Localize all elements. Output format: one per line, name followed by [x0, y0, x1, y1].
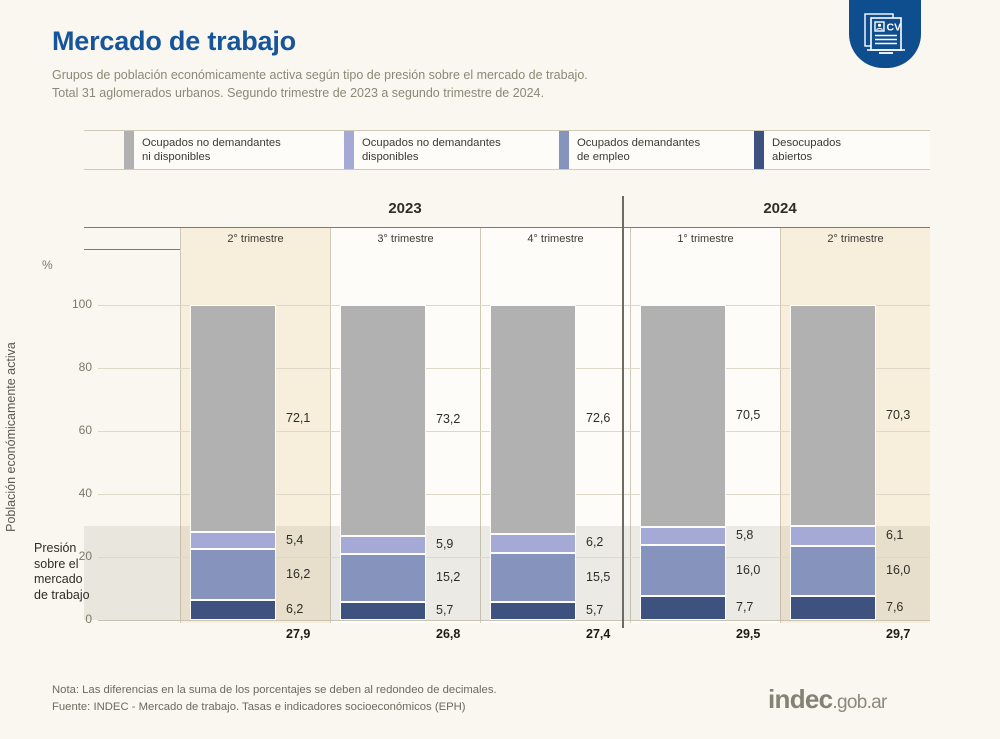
bar-segment: [790, 305, 876, 526]
bar-value-label: 70,5: [736, 408, 760, 422]
stacked-bar: [490, 250, 576, 620]
bar-value-label: 7,6: [886, 600, 903, 614]
page-title: Mercado de trabajo: [52, 26, 296, 57]
bar-segment: [640, 527, 726, 545]
bar-value-label: 73,2: [436, 412, 460, 426]
bar-segment: [340, 536, 426, 555]
bar-total-label: 27,4: [586, 627, 610, 641]
legend-swatch: [344, 131, 354, 169]
bar-segment: [190, 549, 276, 600]
legend-swatch: [559, 131, 569, 169]
bar-value-label: 5,7: [436, 603, 453, 617]
legend-swatch: [754, 131, 764, 169]
stacked-bar: [190, 250, 276, 620]
bar-value-label: 72,1: [286, 411, 310, 425]
bar-value-label: 70,3: [886, 408, 910, 422]
bar-segment: [490, 553, 576, 602]
quarter-label-3: 4° trimestre: [480, 228, 630, 250]
bar-value-label: 5,4: [286, 533, 303, 547]
cv-document-icon: CV: [862, 9, 908, 55]
bar-value-label: 5,9: [436, 537, 453, 551]
y-tick-label-100: 100: [52, 297, 92, 311]
bar-segment: [340, 554, 426, 602]
quarter-label-5: 2° trimestre: [780, 228, 930, 250]
chart-legend: Ocupados no demandantes ni disponibles O…: [84, 130, 930, 170]
bar-value-label: 15,5: [586, 570, 610, 584]
year-header-row: 2023 2024: [84, 196, 930, 228]
bar-segment: [340, 305, 426, 536]
bar-segment: [190, 532, 276, 549]
legend-label: Ocupados demandantes de empleo: [569, 131, 754, 169]
y-tick-label-20: 20: [52, 549, 92, 563]
year-divider: [622, 196, 624, 628]
y-tick-label-40: 40: [52, 486, 92, 500]
legend-item-desocupados-abiertos: Desocupados abiertos: [754, 131, 930, 169]
bar-value-label: 6,2: [586, 535, 603, 549]
brand-suffix: .gob.ar: [832, 692, 886, 713]
bar-segment: [490, 534, 576, 554]
legend-item-ocupados-no-demandantes-disponibles: Ocupados no demandantes disponibles: [344, 131, 559, 169]
bar-value-label: 6,1: [886, 528, 903, 542]
bar-segment: [190, 305, 276, 532]
bar-segment: [490, 305, 576, 534]
legend-label: Desocupados abiertos: [764, 131, 930, 169]
svg-text:CV: CV: [887, 22, 902, 34]
bar-value-label: 72,6: [586, 411, 610, 425]
legend-spacer: [84, 131, 124, 169]
quarter-label-4: 1° trimestre: [630, 228, 780, 250]
stacked-bar: [790, 250, 876, 620]
page-subtitle: Grupos de población económicamente activ…: [52, 66, 588, 102]
legend-item-ocupados-no-demandantes-ni-disponibles: Ocupados no demandantes ni disponibles: [124, 131, 344, 169]
bar-value-label: 6,2: [286, 602, 303, 616]
footer-note: Nota: Las diferencias en la suma de los …: [52, 682, 497, 716]
y-axis-title: Población económicamente activa: [4, 237, 18, 637]
bar-segment: [790, 596, 876, 620]
bar-segment: [790, 526, 876, 545]
cv-badge: CV: [849, 0, 921, 68]
bar-value-label: 16,0: [886, 563, 910, 577]
bar-value-label: 5,8: [736, 528, 753, 542]
bar-total-label: 29,7: [886, 627, 910, 641]
bar-segment: [790, 546, 876, 596]
stacked-bar: [340, 250, 426, 620]
indec-logo: indec.gob.ar: [768, 684, 887, 715]
y-tick-label-60: 60: [52, 423, 92, 437]
infographic-page: Mercado de trabajo Grupos de población e…: [0, 0, 1000, 739]
bar-segment: [640, 305, 726, 527]
year-label-2023: 2023: [180, 200, 630, 217]
stacked-bar: [640, 250, 726, 620]
axis-unit-label: %: [42, 258, 53, 272]
brand-name: indec: [768, 684, 832, 714]
bar-value-label: 7,7: [736, 600, 753, 614]
legend-label: Ocupados no demandantes disponibles: [354, 131, 559, 169]
bar-value-label: 16,2: [286, 567, 310, 581]
year-label-2024: 2024: [630, 200, 930, 217]
bar-segment: [640, 545, 726, 595]
quarter-label-1: 2° trimestre: [180, 228, 330, 250]
bar-total-label: 27,9: [286, 627, 310, 641]
legend-label: Ocupados no demandantes ni disponibles: [134, 131, 344, 169]
chart-plot-area: 6,216,25,472,127,95,715,25,973,226,85,71…: [84, 250, 930, 623]
y-tick-label-0: 0: [52, 612, 92, 626]
bar-segment: [340, 602, 426, 620]
y-tick-label-80: 80: [52, 360, 92, 374]
bar-value-label: 16,0: [736, 563, 760, 577]
bar-value-label: 15,2: [436, 570, 460, 584]
legend-item-ocupados-demandantes-de-empleo: Ocupados demandantes de empleo: [559, 131, 754, 169]
bar-segment: [640, 596, 726, 620]
bar-segment: [190, 600, 276, 620]
bar-value-label: 5,7: [586, 603, 603, 617]
zero-axis-line: [98, 620, 930, 621]
quarter-label-2: 3° trimestre: [330, 228, 480, 250]
bar-total-label: 26,8: [436, 627, 460, 641]
legend-swatch: [124, 131, 134, 169]
quarter-header-row: 2° trimestre3° trimestre4° trimestre1° t…: [84, 228, 930, 250]
bar-segment: [490, 602, 576, 620]
bar-total-label: 29,5: [736, 627, 760, 641]
